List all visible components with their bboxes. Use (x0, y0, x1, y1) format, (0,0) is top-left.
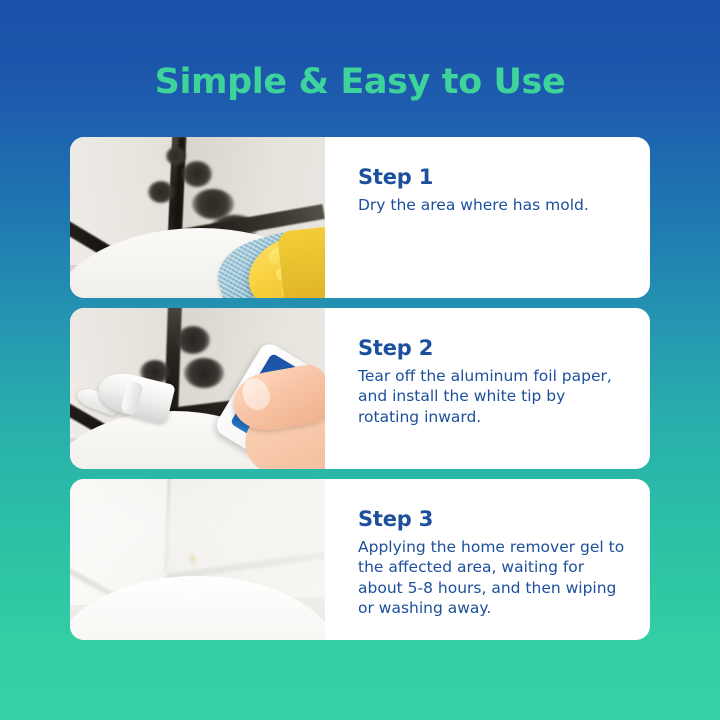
step-2-title: Step 2 (358, 336, 626, 360)
step-1-title: Step 1 (358, 165, 626, 189)
glove-cuff (277, 227, 325, 298)
promo-page: Simple & Easy to Use (0, 0, 720, 720)
step-card-2: CLEANER IN Gogegrat Step 2 Tear off the … (70, 308, 650, 469)
step-1-photo (70, 137, 325, 298)
residue-spot (188, 553, 197, 565)
steps-list: Step 1 Dry the area where has mold. (70, 137, 650, 640)
mold-blotch (182, 161, 212, 187)
step-1-body: Step 1 Dry the area where has mold. (325, 137, 650, 298)
step-card-1: Step 1 Dry the area where has mold. (70, 137, 650, 298)
step-3-photo (70, 479, 325, 640)
page-title: Simple & Easy to Use (0, 62, 720, 102)
mold-blotch (166, 147, 186, 165)
mold-blotch (148, 181, 174, 203)
step-1-description: Dry the area where has mold. (358, 195, 626, 215)
page-title-wrap: Simple & Easy to Use (0, 62, 720, 102)
mold-blotch (176, 326, 210, 354)
step-3-title: Step 3 (358, 507, 626, 531)
step-2-description: Tear off the aluminum foil paper, and in… (358, 366, 626, 427)
step-2-photo: CLEANER IN Gogegrat (70, 308, 325, 469)
step-card-3: Step 3 Applying the home remover gel to … (70, 479, 650, 640)
step-3-body: Step 3 Applying the home remover gel to … (325, 479, 650, 640)
highlight-spot (188, 591, 196, 599)
step-2-body: Step 2 Tear off the aluminum foil paper,… (325, 308, 650, 469)
step-3-description: Applying the home remover gel to the aff… (358, 537, 626, 619)
